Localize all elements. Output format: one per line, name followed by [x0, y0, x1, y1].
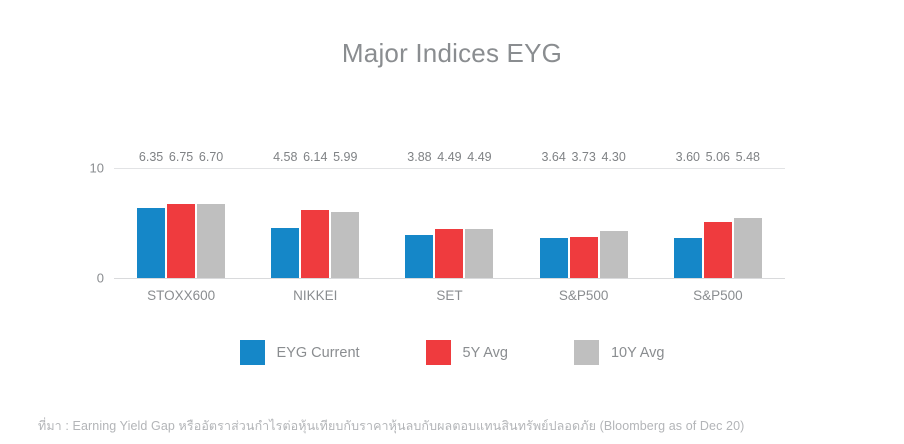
bar-column[interactable]: 3.60 — [674, 168, 702, 278]
bar-value-label: 6.14 — [303, 150, 327, 164]
bar-value-label: 3.60 — [676, 150, 700, 164]
chart-legend: EYG Current5Y Avg10Y Avg — [0, 340, 904, 365]
bar-column[interactable]: 6.14 — [301, 168, 329, 278]
bar[interactable] — [271, 228, 299, 278]
bar-column[interactable]: 6.35 — [137, 168, 165, 278]
bar-column[interactable]: 4.49 — [435, 168, 463, 278]
bar[interactable] — [674, 238, 702, 278]
bar-value-label: 3.88 — [407, 150, 431, 164]
bar-column[interactable]: 3.64 — [540, 168, 568, 278]
chart-container: Major Indices EYG 10 0 6.356.756.704.586… — [0, 0, 904, 444]
chart-title: Major Indices EYG — [0, 38, 904, 69]
bar-group: 3.643.734.30 — [530, 168, 638, 278]
bar[interactable] — [167, 204, 195, 278]
bar[interactable] — [570, 237, 598, 278]
bar-column[interactable]: 4.49 — [465, 168, 493, 278]
bar-column[interactable]: 3.88 — [405, 168, 433, 278]
bar-value-label: 4.49 — [467, 150, 491, 164]
x-axis-labels: STOXX600NIKKEISETS&P500S&P500 — [114, 288, 785, 303]
bar-value-label: 4.30 — [601, 150, 625, 164]
bar-value-label: 4.58 — [273, 150, 297, 164]
bar-value-label: 6.35 — [139, 150, 163, 164]
bar[interactable] — [301, 210, 329, 278]
bar-group: 6.356.756.70 — [127, 168, 235, 278]
legend-swatch-icon — [574, 340, 599, 365]
legend-item[interactable]: 5Y Avg — [426, 340, 508, 365]
bar-column[interactable]: 3.73 — [570, 168, 598, 278]
legend-item[interactable]: EYG Current — [240, 340, 360, 365]
bar[interactable] — [197, 204, 225, 278]
bar-value-label: 5.99 — [333, 150, 357, 164]
bar-column[interactable]: 4.58 — [271, 168, 299, 278]
plot-area: 10 0 6.356.756.704.586.145.993.884.494.4… — [114, 168, 785, 278]
y-axis-tick-0: 0 — [97, 271, 104, 286]
bar[interactable] — [600, 231, 628, 278]
axis-baseline — [114, 278, 785, 279]
bar[interactable] — [137, 208, 165, 278]
bar-value-label: 6.75 — [169, 150, 193, 164]
bar[interactable] — [331, 212, 359, 278]
bar[interactable] — [435, 229, 463, 278]
bar-column[interactable]: 5.99 — [331, 168, 359, 278]
y-axis-tick-10: 10 — [90, 161, 104, 176]
legend-label: 5Y Avg — [463, 345, 508, 361]
bar[interactable] — [734, 218, 762, 278]
bar-column[interactable]: 5.48 — [734, 168, 762, 278]
x-axis-label: STOXX600 — [127, 288, 235, 303]
legend-swatch-icon — [240, 340, 265, 365]
bar-group: 3.884.494.49 — [395, 168, 503, 278]
bar-column[interactable]: 6.75 — [167, 168, 195, 278]
x-axis-label: SET — [395, 288, 503, 303]
legend-label: EYG Current — [277, 345, 360, 361]
bar-column[interactable]: 5.06 — [704, 168, 732, 278]
x-axis-label: S&P500 — [530, 288, 638, 303]
bar-value-label: 6.70 — [199, 150, 223, 164]
legend-item[interactable]: 10Y Avg — [574, 340, 665, 365]
bar[interactable] — [540, 238, 568, 278]
bar-value-label: 3.73 — [571, 150, 595, 164]
bar-value-label: 5.06 — [706, 150, 730, 164]
bar[interactable] — [704, 222, 732, 278]
bar-value-label: 3.64 — [541, 150, 565, 164]
bar[interactable] — [465, 229, 493, 278]
x-axis-label: S&P500 — [664, 288, 772, 303]
bar-group: 4.586.145.99 — [261, 168, 369, 278]
bar-value-label: 4.49 — [437, 150, 461, 164]
bar-value-label: 5.48 — [736, 150, 760, 164]
legend-swatch-icon — [426, 340, 451, 365]
bar-column[interactable]: 6.70 — [197, 168, 225, 278]
legend-label: 10Y Avg — [611, 345, 665, 361]
x-axis-label: NIKKEI — [261, 288, 369, 303]
bar-groups: 6.356.756.704.586.145.993.884.494.493.64… — [114, 168, 785, 278]
chart-footnote: ที่มา : Earning Yield Gap หรืออัตราส่วนก… — [38, 416, 744, 436]
bar-column[interactable]: 4.30 — [600, 168, 628, 278]
bar[interactable] — [405, 235, 433, 278]
bar-group: 3.605.065.48 — [664, 168, 772, 278]
